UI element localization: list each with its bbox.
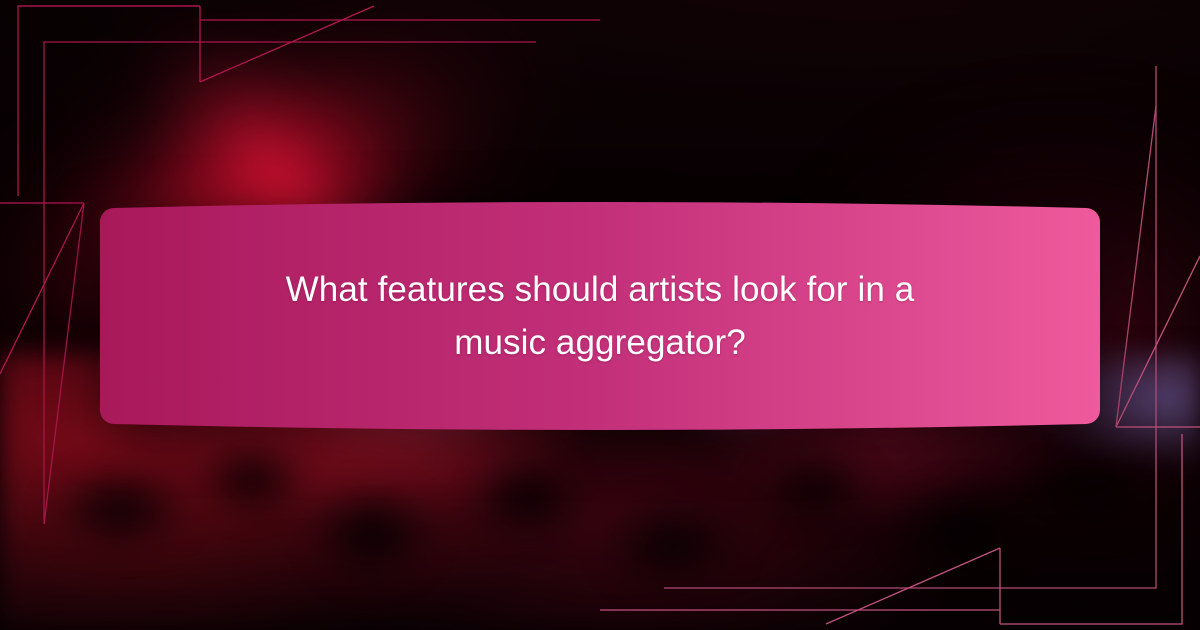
- poster-canvas: What features should artists look for in…: [0, 0, 1200, 630]
- question-line-1: What features should artists look for in…: [286, 263, 915, 316]
- question-text: What features should artists look for in…: [100, 200, 1100, 432]
- question-card: What features should artists look for in…: [100, 200, 1100, 432]
- question-line-2: music aggregator?: [454, 316, 746, 369]
